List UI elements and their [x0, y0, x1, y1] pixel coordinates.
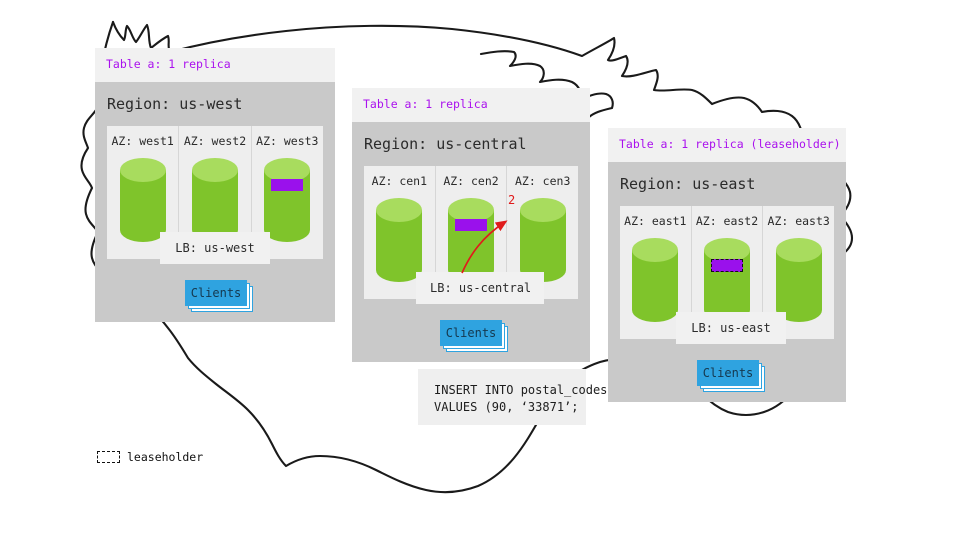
- node-cylinder[interactable]: [191, 157, 239, 243]
- diagram-canvas: Table a: 1 replica Region: us-west AZ: w…: [0, 0, 960, 540]
- load-balancer-box[interactable]: LB: us-east: [676, 312, 786, 344]
- node-cylinder[interactable]: [519, 197, 567, 283]
- region-title: Region: us-west: [95, 82, 335, 126]
- region-panel-us-west: Table a: 1 replica Region: us-west AZ: w…: [95, 48, 335, 322]
- dashed-rect-icon: [97, 451, 120, 463]
- region-panel-us-central: Table a: 1 replica Region: us-central AZ…: [352, 88, 590, 362]
- table-replica-banner: Table a: 1 replica: [352, 88, 590, 122]
- clients-label: Clients: [185, 280, 247, 306]
- clients-label: Clients: [697, 360, 759, 386]
- clients-stack[interactable]: Clients: [697, 360, 759, 386]
- replica-badge: [271, 179, 303, 191]
- table-replica-banner: Table a: 1 replica: [95, 48, 335, 82]
- az-label: AZ: east3: [768, 214, 830, 228]
- node-cylinder[interactable]: [447, 197, 495, 283]
- load-balancer-box[interactable]: LB: us-west: [160, 232, 270, 264]
- clients-label: Clients: [440, 320, 502, 346]
- region-title: Region: us-central: [352, 122, 590, 166]
- node-cylinder[interactable]: [631, 237, 679, 323]
- arrow-step-label: 2: [508, 193, 515, 207]
- load-balancer-box[interactable]: LB: us-central: [416, 272, 544, 304]
- node-cylinder[interactable]: [263, 157, 311, 243]
- leaseholder-badge: [711, 259, 743, 272]
- az-label: AZ: west1: [112, 134, 174, 148]
- node-cylinder[interactable]: [375, 197, 423, 283]
- legend: leaseholder: [97, 450, 203, 464]
- az-label: AZ: east1: [624, 214, 686, 228]
- region-panel-us-east: Table a: 1 replica (leaseholder) Region:…: [608, 128, 846, 402]
- replica-badge: [455, 219, 487, 231]
- az-label: AZ: west2: [184, 134, 246, 148]
- clients-stack[interactable]: Clients: [440, 320, 502, 346]
- legend-label: leaseholder: [127, 450, 203, 464]
- az-label: AZ: cen1: [372, 174, 427, 188]
- region-title: Region: us-east: [608, 162, 846, 206]
- node-cylinder[interactable]: [703, 237, 751, 323]
- az-label: AZ: east2: [696, 214, 758, 228]
- az-label: AZ: west3: [256, 134, 318, 148]
- az-label: AZ: cen3: [515, 174, 570, 188]
- clients-stack[interactable]: Clients: [185, 280, 247, 306]
- node-cylinder[interactable]: [119, 157, 167, 243]
- sql-statement-box: INSERT INTO postal_codes VALUES (90, ‘33…: [418, 369, 586, 425]
- node-cylinder[interactable]: [775, 237, 823, 323]
- table-replica-banner: Table a: 1 replica (leaseholder): [608, 128, 846, 162]
- az-label: AZ: cen2: [443, 174, 498, 188]
